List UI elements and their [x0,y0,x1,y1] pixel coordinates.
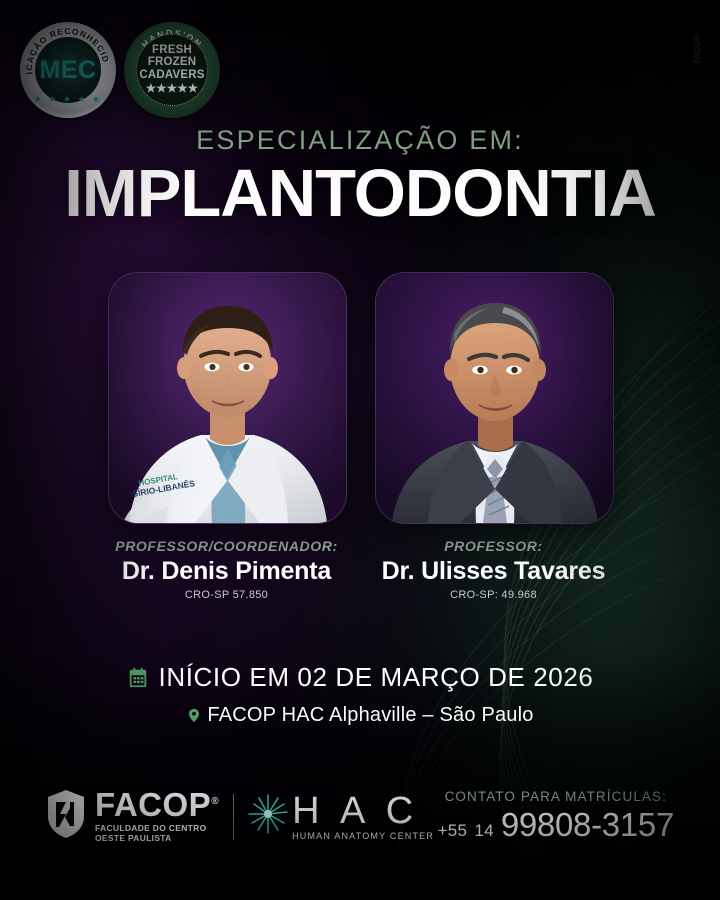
facop-wordmark: FACOP® FACULDADE DO CENTRO OESTE PAULIST… [95,789,219,844]
event-place-row: FACOP HAC Alphaville – São Paulo [186,704,533,727]
mec-badge: CERTIFICAÇÃO RECONHECIDA PELO MEC ★ ★ ★ … [20,22,116,118]
facop-logo: FACOP® FACULDADE DO CENTRO OESTE PAULIST… [46,789,219,844]
professor-card-2: PROFESSOR: Dr. Ulisses Tavares CRO-SP: 4… [375,272,612,601]
poster-root: FACOP CERTIFICAÇÃO RECONHECIDA PELO MEC … [0,0,720,900]
professor-name-1: Dr. Denis Pimenta [108,557,345,586]
professor-cro-2: CRO-SP: 49.968 [375,589,612,601]
event-place-text: FACOP HAC Alphaville – São Paulo [207,704,533,727]
hands-on-line-2: FROZEN [124,57,220,69]
location-pin-icon [186,706,202,725]
footer: FACOP® FACULDADE DO CENTRO OESTE PAULIST… [0,789,720,844]
brand-logos: FACOP® FACULDADE DO CENTRO OESTE PAULIST… [46,789,434,844]
contact-label: CONTATO PARA MATRÍCULAS: [438,789,674,804]
watermark-label: FACOP [693,34,702,64]
phone-area-code: 14 [474,821,494,841]
facop-trademark: ® [211,796,219,807]
hac-starburst-icon [248,792,288,841]
professor-photo-1: HOSPITAL SÍRIO-LIBANÊS [108,272,347,524]
facop-tagline: FACULDADE DO CENTRO OESTE PAULISTA [95,823,219,844]
facop-name: FACOP® [95,789,219,820]
hands-on-line-1: FRESH [124,44,220,56]
hands-on-badge: HANDS'ON HANDS'ON FRESH FROZEN CADAVERS … [124,22,220,118]
professor-card-1: HOSPITAL SÍRIO-LIBANÊS PROFESSOR/COORDEN… [108,272,345,601]
course-subtitle: ESPECIALIZAÇÃO EM: [0,125,720,156]
hands-on-stars: ★★★★★ [124,83,220,95]
calendar-icon [127,667,149,689]
event-date-row: INÍCIO EM 02 DE MARÇO DE 2026 [127,662,594,693]
facop-name-text: FACOP [95,786,211,823]
hands-on-center-text: FRESH FROZEN CADAVERS ★★★★★ [124,44,220,96]
logo-divider [233,794,234,840]
hac-logo: H A C HUMAN ANATOMY CENTER [248,792,434,841]
heading-block: ESPECIALIZAÇÃO EM: IMPLANTODONTIA [0,125,720,227]
mec-badge-stars: ★ ★ ★ ★ ★ [20,94,116,105]
event-info: INÍCIO EM 02 DE MARÇO DE 2026 FACOP HAC … [0,662,720,730]
professor-role-2: PROFESSOR: [375,538,612,554]
professor-portrait-1-illustration: HOSPITAL SÍRIO-LIBANÊS [109,273,346,523]
professor-meta-2: PROFESSOR: Dr. Ulisses Tavares CRO-SP: 4… [375,538,612,601]
page-title: IMPLANTODONTIA [0,160,720,227]
phone-country-code: +55 [438,821,468,841]
professor-cro-1: CRO-SP 57.850 [108,589,345,601]
professor-portrait-2-illustration [376,273,613,523]
contact-phone[interactable]: +55 14 99808-3157 [438,806,674,844]
certification-badges: CERTIFICAÇÃO RECONHECIDA PELO MEC ★ ★ ★ … [20,22,220,118]
hands-on-line-3: CADAVERS [124,69,220,81]
professors-section: HOSPITAL SÍRIO-LIBANÊS PROFESSOR/COORDEN… [0,272,720,601]
contact-block: CONTATO PARA MATRÍCULAS: +55 14 99808-31… [438,789,674,844]
professor-photo-2 [375,272,614,524]
professor-meta-1: PROFESSOR/COORDENADOR: Dr. Denis Pimenta… [108,538,345,601]
hac-wordmark: H A C HUMAN ANATOMY CENTER [292,794,434,841]
event-date-text: INÍCIO EM 02 DE MARÇO DE 2026 [159,662,594,693]
mec-badge-word: MEC [39,56,96,85]
hac-letters: H A C [292,794,434,828]
professor-name-2: Dr. Ulisses Tavares [375,557,612,586]
phone-number: 99808-3157 [501,806,674,844]
facop-shield-icon [46,789,86,844]
professor-role-1: PROFESSOR/COORDENADOR: [108,538,345,554]
hac-tagline: HUMAN ANATOMY CENTER [292,831,434,841]
